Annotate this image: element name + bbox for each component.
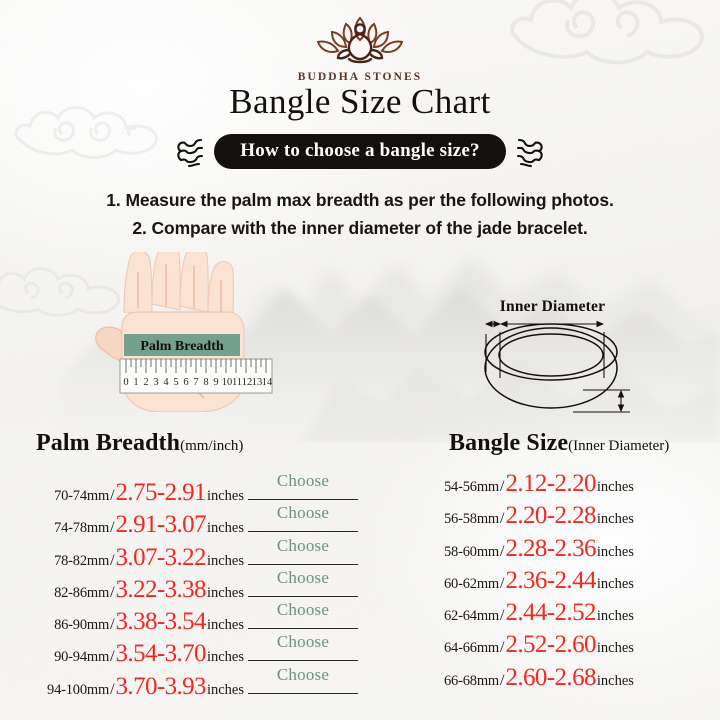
left-mm-value: 90-94mm (54, 649, 109, 665)
palm-breadth-badge: Palm Breadth (124, 334, 240, 356)
left-inch-value: 3.38-3.54 (116, 608, 206, 635)
choose-size-option[interactable]: Choose (248, 567, 358, 597)
svg-text:4: 4 (163, 377, 169, 388)
right-mm-value: 66-68mm (444, 673, 499, 690)
ruler: 0 1 2 3 4 5 6 7 8 9 10 11 12 13 14 (120, 359, 273, 393)
left-inch-value: 3.22-3.38 (116, 576, 206, 603)
unit-label: inches (207, 585, 244, 601)
right-inch-value: 2.28-2.36 (505, 535, 595, 563)
left-measure-cell: 90-94mm/3.54-3.70inches (22, 640, 244, 668)
unit-label: inches (207, 520, 244, 536)
right-mm-value: 58-60mm (444, 544, 499, 561)
right-mm-value: 64-66mm (444, 640, 499, 657)
left-mm-value: 82-86mm (54, 585, 109, 601)
palm-breadth-badge-label: Palm Breadth (140, 339, 224, 354)
choose-size-option[interactable]: Choose (248, 502, 358, 532)
palm-breadth-row: 70-74mm/2.75-2.91inchesChoose (22, 470, 362, 502)
left-measure-cell: 70-74mm/2.75-2.91inches (22, 479, 244, 507)
bangle-size-row: 54-56mm/2.12-2.20inches (440, 470, 718, 502)
choose-size-option[interactable]: Choose (248, 535, 358, 565)
svg-text:3: 3 (153, 377, 158, 388)
right-inch-value: 2.52-2.60 (505, 631, 595, 659)
choose-label: Choose (248, 600, 358, 620)
svg-text:5: 5 (173, 377, 178, 388)
bangle-size-row: 56-58mm/2.20-2.28inches (440, 502, 718, 534)
palm-breadth-row: 82-86mm/3.22-3.38inchesChoose (22, 567, 362, 599)
bangle-size-row: 64-66mm/2.52-2.60inches (440, 631, 718, 663)
svg-text:10: 10 (222, 377, 233, 388)
svg-text:12: 12 (242, 377, 253, 388)
svg-text:9: 9 (213, 377, 218, 388)
unit-label: inches (597, 511, 634, 528)
left-inch-value: 3.07-3.22 (116, 544, 206, 571)
unit-label: inches (597, 544, 634, 561)
choose-size-option[interactable]: Choose (248, 599, 358, 629)
left-inch-value: 2.75-2.91 (116, 479, 206, 506)
svg-text:13: 13 (252, 377, 263, 388)
right-mm-value: 56-58mm (444, 511, 499, 528)
inner-diameter-illustration (455, 292, 650, 417)
bangle-size-row: 62-64mm/2.44-2.52inches (440, 599, 718, 631)
unit-label: inches (207, 617, 244, 633)
page-title: Bangle Size Chart (0, 82, 720, 122)
left-inch-value: 3.70-3.93 (116, 673, 206, 700)
palm-breadth-header-main: Palm Breadth (36, 430, 180, 456)
bangle-size-column-header: Bangle Size(Inner Diameter) (449, 430, 669, 457)
svg-text:7: 7 (193, 377, 198, 388)
left-mm-value: 74-78mm (54, 520, 109, 536)
right-inch-value: 2.44-2.52 (505, 599, 595, 627)
left-measure-cell: 94-100mm/3.70-3.93inches (22, 673, 244, 701)
choose-size-option[interactable]: Choose (248, 631, 358, 661)
svg-text:1: 1 (133, 377, 138, 388)
unit-label: inches (207, 553, 244, 569)
bangle-size-row: 66-68mm/2.60-2.68inches (440, 664, 718, 696)
choose-label: Choose (248, 632, 358, 652)
choose-label: Choose (248, 665, 358, 685)
bangle-size-row: 58-60mm/2.28-2.36inches (440, 535, 718, 567)
palm-breadth-row: 74-78mm/2.91-3.07inchesChoose (22, 502, 362, 534)
svg-text:2: 2 (143, 377, 148, 388)
choose-label: Choose (248, 568, 358, 588)
right-inch-value: 2.36-2.44 (505, 567, 595, 595)
unit-label: inches (597, 673, 634, 690)
right-inch-value: 2.12-2.20 (505, 470, 595, 498)
unit-label: inches (597, 608, 634, 625)
choose-label: Choose (248, 471, 358, 491)
svg-text:6: 6 (183, 377, 188, 388)
instruction-step-1: 1. Measure the palm max breadth as per t… (0, 190, 720, 211)
left-inch-value: 3.54-3.70 (116, 640, 206, 667)
flourish-ornament-icon (175, 135, 205, 169)
svg-text:14: 14 (262, 377, 273, 388)
palm-breadth-table: 70-74mm/2.75-2.91inchesChoose74-78mm/2.9… (22, 470, 362, 696)
lotus-meditation-icon (308, 12, 412, 70)
bangle-size-table: 54-56mm/2.12-2.20inches56-58mm/2.20-2.28… (440, 470, 718, 696)
svg-text:8: 8 (203, 377, 208, 388)
right-mm-value: 54-56mm (444, 479, 499, 496)
left-measure-cell: 86-90mm/3.38-3.54inches (22, 608, 244, 636)
choose-size-option[interactable]: Choose (248, 470, 358, 500)
right-inch-value: 2.60-2.68 (505, 664, 595, 692)
svg-text:0: 0 (123, 377, 128, 388)
right-inch-value: 2.20-2.28 (505, 502, 595, 530)
unit-label: inches (207, 488, 244, 504)
palm-breadth-column-header: Palm Breadth(mm/inch) (36, 430, 243, 457)
size-chart-page: BUDDHA STONES Bangle Size Chart How to c… (0, 0, 720, 720)
unit-label: inches (207, 649, 244, 665)
subtitle-badge: How to choose a bangle size? (214, 134, 505, 169)
instruction-step-2: 2. Compare with the inner diameter of th… (0, 218, 720, 239)
palm-breadth-header-sub: (mm/inch) (180, 438, 243, 454)
bangle-size-header-sub: (Inner Diameter) (568, 438, 669, 454)
palm-breadth-row: 78-82mm/3.07-3.22inchesChoose (22, 535, 362, 567)
left-inch-value: 2.91-3.07 (116, 511, 206, 538)
bangle-size-row: 60-62mm/2.36-2.44inches (440, 567, 718, 599)
left-mm-value: 78-82mm (54, 553, 109, 569)
left-measure-cell: 74-78mm/2.91-3.07inches (22, 511, 244, 539)
brand-logo: BUDDHA STONES (0, 12, 720, 83)
flourish-ornament-icon (515, 135, 545, 169)
choose-size-option[interactable]: Choose (248, 664, 358, 694)
subtitle-row: How to choose a bangle size? (0, 134, 720, 169)
left-measure-cell: 82-86mm/3.22-3.38inches (22, 576, 244, 604)
palm-breadth-row: 86-90mm/3.38-3.54inchesChoose (22, 599, 362, 631)
svg-text:11: 11 (232, 377, 242, 388)
palm-breadth-row: 90-94mm/3.54-3.70inchesChoose (22, 631, 362, 663)
choose-label: Choose (248, 536, 358, 556)
left-measure-cell: 78-82mm/3.07-3.22inches (22, 544, 244, 572)
palm-breadth-illustration: Palm Breadth 0 1 2 3 4 5 6 7 8 9 10 11 1… (78, 252, 303, 412)
bangle-size-header-main: Bangle Size (449, 430, 568, 456)
choose-label: Choose (248, 503, 358, 523)
unit-label: inches (597, 640, 634, 657)
left-mm-value: 70-74mm (54, 488, 109, 504)
unit-label: inches (597, 479, 634, 496)
left-mm-value: 94-100mm (47, 682, 109, 698)
unit-label: inches (207, 682, 244, 698)
right-mm-value: 60-62mm (444, 576, 499, 593)
unit-label: inches (597, 576, 634, 593)
palm-breadth-row: 94-100mm/3.70-3.93inchesChoose (22, 664, 362, 696)
left-mm-value: 86-90mm (54, 617, 109, 633)
right-mm-value: 62-64mm (444, 608, 499, 625)
